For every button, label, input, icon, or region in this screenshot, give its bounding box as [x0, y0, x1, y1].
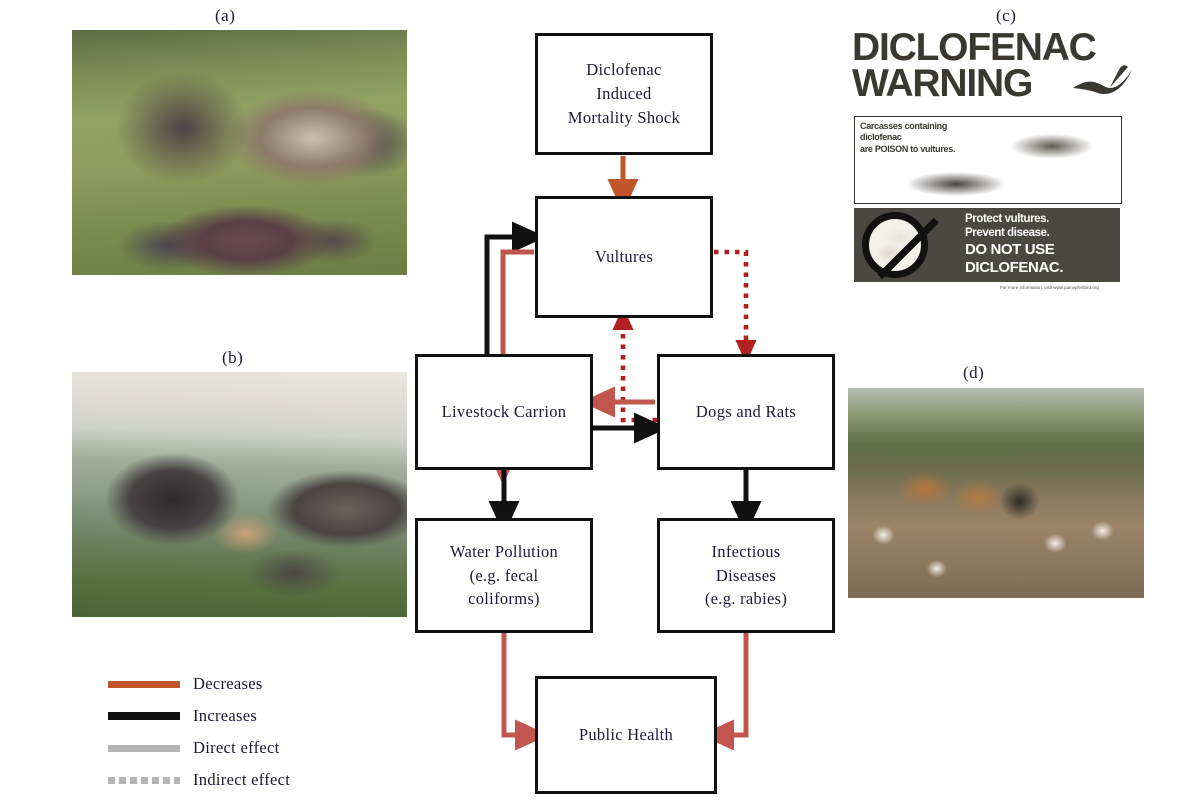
no-entry-icon: [862, 212, 928, 278]
poster-caption-line2: are POISON to vultures.: [855, 144, 990, 155]
panel-label-b: (b): [222, 348, 243, 368]
legend-label-indirect-effect: Indirect effect: [193, 770, 290, 790]
photo-panel-d: [848, 388, 1144, 598]
poster-message-line1: Protect vultures.: [965, 213, 1115, 227]
panel-label-c: (c): [996, 6, 1016, 26]
legend-swatch-indirect-effect: [108, 777, 180, 784]
legend-label-increases: Increases: [193, 706, 257, 726]
poster-caption-line1: Carcasses containing diclofenac: [855, 117, 990, 144]
node-label: Vultures: [595, 245, 653, 269]
legend-label-decreases: Decreases: [193, 674, 263, 694]
edge-disease-to-publichealth: [717, 633, 746, 735]
node-livestock-carrion[interactable]: Livestock Carrion: [415, 354, 593, 470]
poster-footer-text: For more information, visit www.pamvphvt…: [1000, 285, 1099, 290]
legend: Decreases Increases Direct effect Indire…: [108, 668, 290, 796]
legend-swatch-direct-effect: [108, 745, 180, 752]
node-public-health[interactable]: Public Health: [535, 676, 717, 794]
node-label: Livestock Carrion: [442, 400, 567, 424]
panel-label-a: (a): [215, 6, 235, 26]
edge-dogs-to-vultures: [623, 318, 657, 420]
legend-item-indirect-effect: Indirect effect: [108, 764, 290, 796]
legend-swatch-decreases: [108, 681, 180, 688]
node-diclofenac-shock[interactable]: Diclofenac Induced Mortality Shock: [535, 33, 713, 155]
node-label: Infectious Diseases (e.g. rabies): [705, 540, 787, 612]
legend-label-direct-effect: Direct effect: [193, 738, 280, 758]
no-entry-slash: [877, 218, 939, 280]
legend-item-increases: Increases: [108, 700, 290, 732]
node-label: Public Health: [579, 723, 673, 747]
poster-do-not-use-banner: Protect vultures. Prevent disease. DO NO…: [854, 208, 1120, 282]
poster-message-line3: DO NOT USE: [965, 242, 1115, 258]
photo-panel-b: [72, 372, 407, 617]
figure-root: (a) (b) (c) DICLOFENAC WARNING Carcasses…: [0, 0, 1203, 800]
node-vultures[interactable]: Vultures: [535, 196, 713, 318]
legend-item-decreases: Decreases: [108, 668, 290, 700]
poster-message-line2: Prevent disease.: [965, 227, 1115, 241]
node-infectious-diseases[interactable]: Infectious Diseases (e.g. rabies): [657, 518, 835, 633]
photo-panel-a: [72, 30, 407, 275]
legend-swatch-increases: [108, 712, 180, 720]
panel-label-d: (d): [963, 363, 984, 383]
edge-vultures-to-dogs: [714, 252, 746, 352]
flying-vulture-icon: [1070, 58, 1136, 104]
node-water-pollution[interactable]: Water Pollution (e.g. fecal coliforms): [415, 518, 593, 633]
poster-message-line4: DICLOFENAC.: [965, 260, 1115, 276]
node-dogs-and-rats[interactable]: Dogs and Rats: [657, 354, 835, 470]
node-label: Diclofenac Induced Mortality Shock: [568, 58, 680, 130]
diclofenac-warning-poster: DICLOFENAC WARNING Carcasses containing …: [850, 30, 1142, 292]
node-label: Dogs and Rats: [696, 400, 796, 424]
edge-water-to-publichealth: [504, 633, 532, 735]
legend-item-direct-effect: Direct effect: [108, 732, 290, 764]
node-label: Water Pollution (e.g. fecal coliforms): [450, 540, 558, 612]
poster-carcass-illustration: Carcasses containing diclofenac are POIS…: [854, 116, 1122, 204]
